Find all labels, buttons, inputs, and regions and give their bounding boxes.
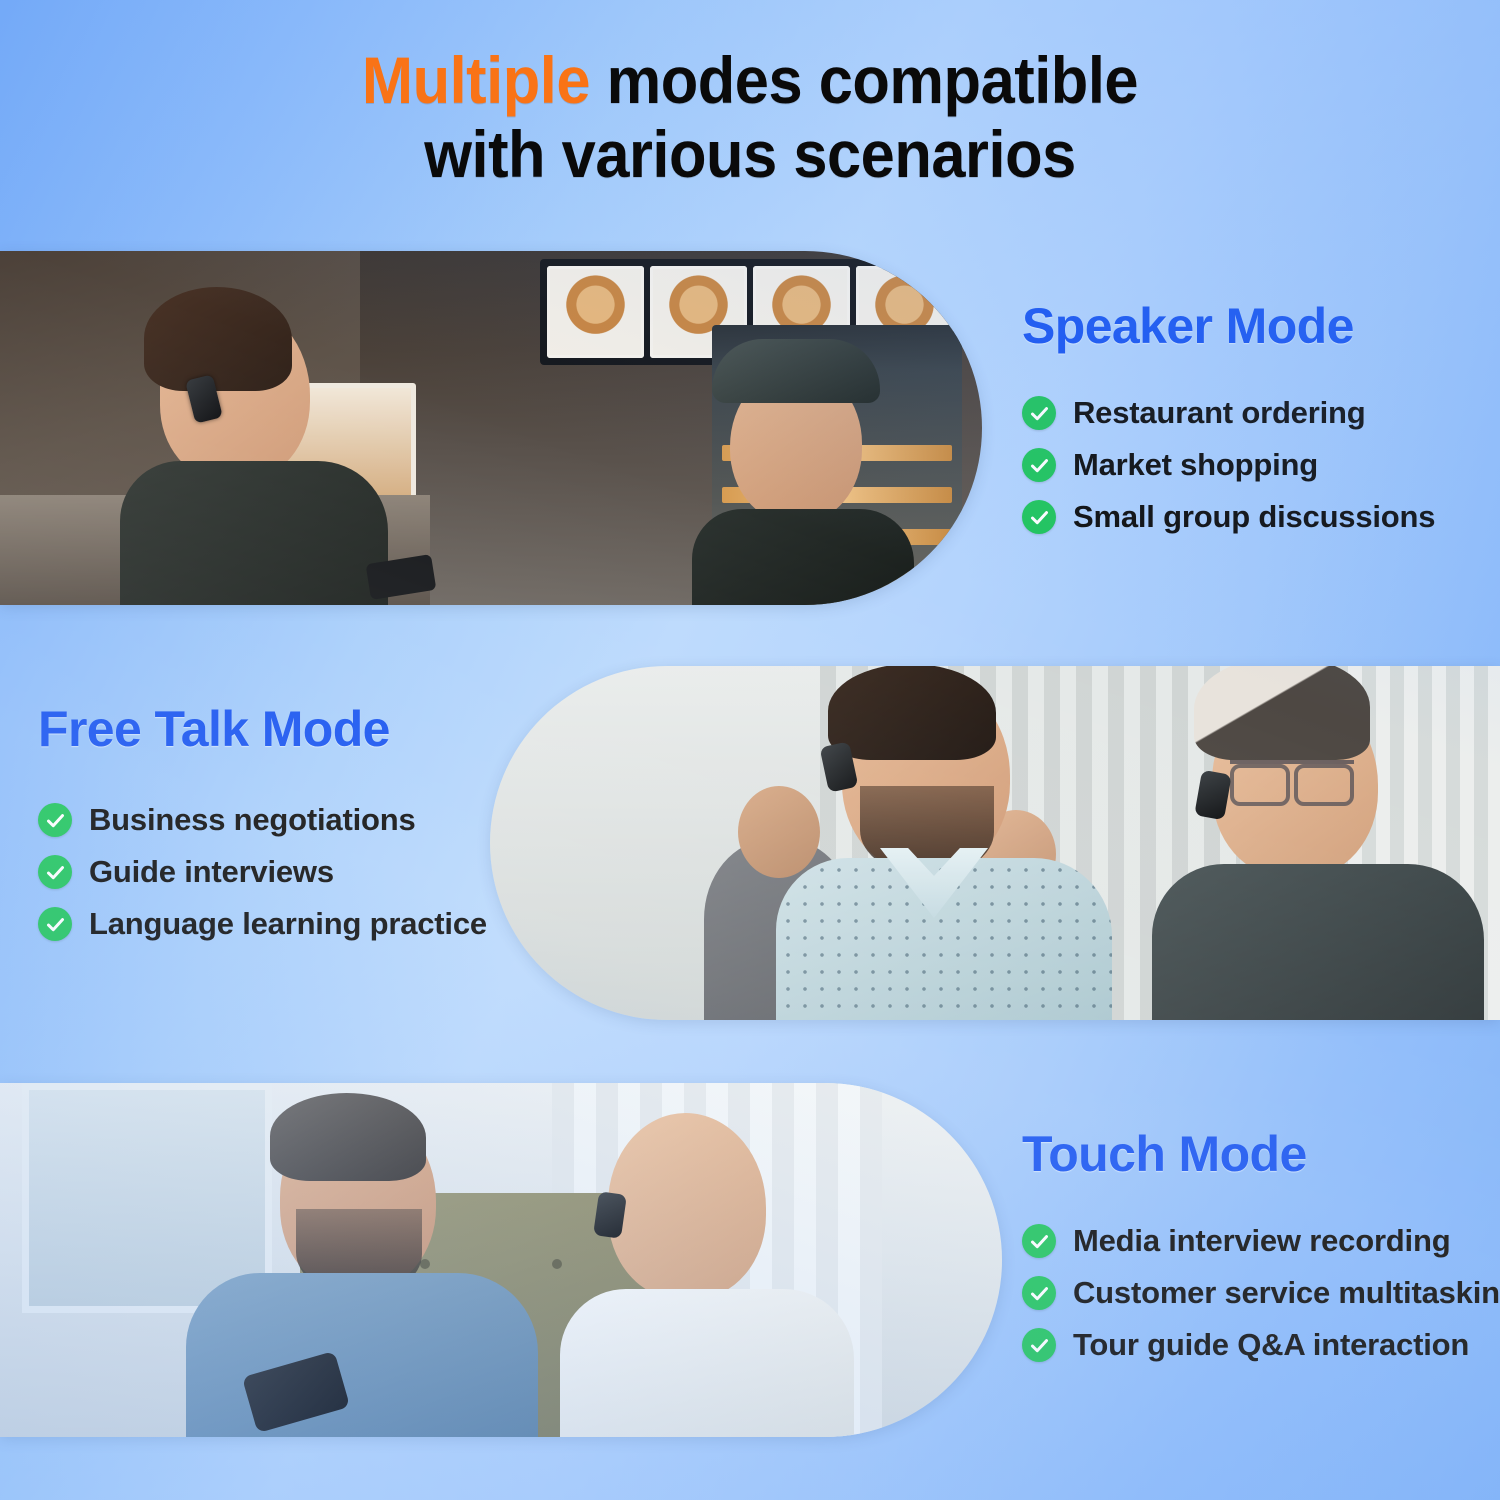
office-scene [490,666,1500,1020]
page-title: Multiple modes compatible with various s… [0,44,1500,192]
eyeglasses-icon [1230,760,1354,794]
check-circle-icon [38,803,72,837]
man-hair [828,666,996,760]
list-item: Restaurant ordering [1022,395,1490,431]
man-hair [270,1093,426,1181]
laughing-man-figure [776,670,1116,1020]
sofa-scene [0,1083,1002,1437]
list-item-label: Small group discussions [1073,499,1435,535]
touch-mode-text: Touch Mode Media interview recording Cus… [1022,1083,1492,1437]
headline-line-2: with various scenarios [53,118,1448,192]
list-item-label: Business negotiations [89,802,416,838]
headline-line-1-rest: modes compatible [590,43,1138,117]
staff-figure [688,327,918,605]
list-item-label: Media interview recording [1073,1223,1450,1259]
headline-accent-word: Multiple [362,43,590,117]
list-item-label: Market shopping [1073,447,1318,483]
touch-mode-feature-list: Media interview recording Customer servi… [1022,1223,1492,1363]
check-circle-icon [1022,500,1056,534]
check-circle-icon [38,855,72,889]
check-circle-icon [1022,1276,1056,1310]
check-circle-icon [1022,448,1056,482]
man-figure [186,1097,546,1437]
free-talk-mode-photo [490,666,1500,1020]
mode-section-speaker: Speaker Mode Restaurant ordering Market … [0,251,1500,605]
customer-figure [112,285,412,605]
touch-mode-photo [0,1083,1002,1437]
mode-section-free-talk: Free Talk Mode Business negotiations Gui… [0,666,1500,1020]
customer-hair [144,287,292,391]
free-talk-mode-feature-list: Business negotiations Guide interviews L… [38,802,508,942]
mode-section-touch: Touch Mode Media interview recording Cus… [0,1083,1500,1437]
mode-title-speaker: Speaker Mode [1022,297,1490,355]
check-circle-icon [1022,396,1056,430]
list-item: Guide interviews [38,854,508,890]
check-circle-icon [38,907,72,941]
free-talk-mode-text: Free Talk Mode Business negotiations Gui… [38,666,508,1020]
woman-head [608,1113,766,1299]
list-item: Market shopping [1022,447,1490,483]
check-circle-icon [1022,1328,1056,1362]
denim-jacket [186,1273,538,1437]
list-item: Language learning practice [38,906,508,942]
speaker-mode-text: Speaker Mode Restaurant ordering Market … [1022,251,1490,605]
restaurant-scene [0,251,982,605]
list-item-label: Restaurant ordering [1073,395,1365,431]
staff-cap [712,339,880,403]
list-item-label: Customer service multitasking [1073,1275,1500,1311]
list-item-label: Language learning practice [89,906,487,942]
speaker-mode-feature-list: Restaurant ordering Market shopping Smal… [1022,395,1490,535]
list-item: Customer service multitasking [1022,1275,1492,1311]
list-item-label: Guide interviews [89,854,334,890]
check-circle-icon [1022,1224,1056,1258]
list-item: Tour guide Q&A interaction [1022,1327,1492,1363]
list-item: Business negotiations [38,802,508,838]
list-item: Small group discussions [1022,499,1490,535]
woman-figure [1158,668,1488,1020]
mode-title-free-talk: Free Talk Mode [38,700,508,758]
woman-blazer [1152,864,1484,1020]
promo-page: Multiple modes compatible with various s… [0,0,1500,1500]
staff-torso [692,509,914,605]
list-item: Media interview recording [1022,1223,1492,1259]
woman-figure [538,1089,868,1437]
woman-tshirt [560,1289,854,1437]
woman-hair [1194,666,1370,760]
menu-item-image [547,266,644,358]
speaker-mode-photo [0,251,982,605]
headline-line-1: Multiple modes compatible [53,44,1448,118]
mode-title-touch: Touch Mode [1022,1125,1492,1183]
list-item-label: Tour guide Q&A interaction [1073,1327,1469,1363]
customer-torso [120,461,388,605]
